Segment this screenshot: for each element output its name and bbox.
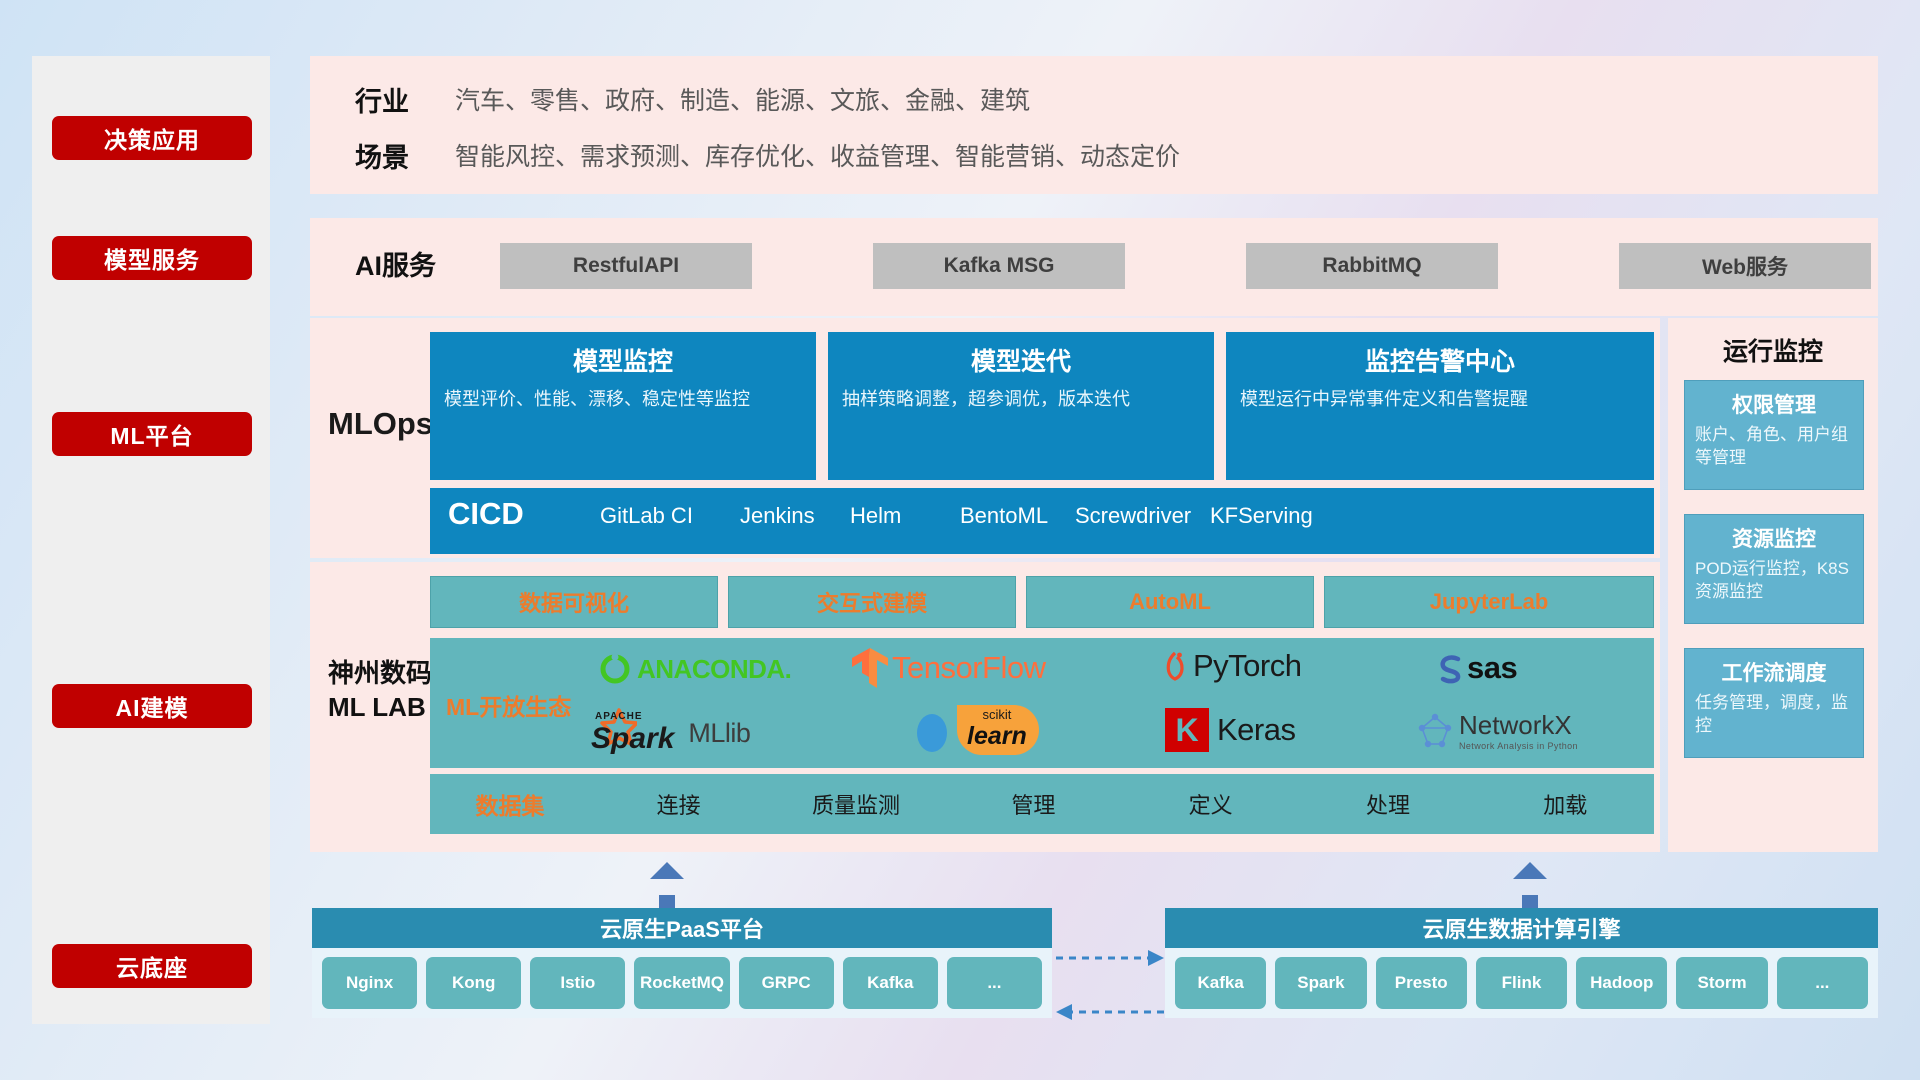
- up-arrow-paas-icon: [650, 862, 684, 904]
- ml-lab-label-line1: 神州数码: [328, 657, 438, 691]
- dataset-item-connect[interactable]: 连接: [590, 788, 767, 820]
- scikit-learn-logo: scikit learn: [915, 704, 1039, 756]
- ai-service-chip-web-service[interactable]: Web服务: [1619, 243, 1871, 289]
- cloud-engine-chips: Kafka Spark Presto Flink Hadoop Storm ..…: [1165, 948, 1878, 1018]
- cicd-title: CICD: [430, 488, 600, 532]
- pytorch-logo: PyTorch: [1160, 648, 1301, 684]
- cloud-chip-more-engine[interactable]: ...: [1777, 957, 1868, 1009]
- cicd-item-gitlab-ci[interactable]: GitLab CI: [600, 488, 740, 530]
- pytorch-logo-text: PyTorch: [1193, 648, 1301, 684]
- monitor-card-workflow[interactable]: 工作流调度 任务管理，调度，监控: [1684, 648, 1864, 758]
- dataset-item-loading[interactable]: 加载: [1477, 788, 1654, 820]
- card-desc: 模型运行中异常事件定义和告警提醒: [1240, 387, 1640, 411]
- monitor-card-resource[interactable]: 资源监控 POD运行监控，K8S资源监控: [1684, 514, 1864, 624]
- dataset-item-definition[interactable]: 定义: [1122, 788, 1299, 820]
- sas-logo: sas: [1433, 650, 1517, 686]
- ml-lab-label-line2: ML LAB: [328, 691, 438, 725]
- runtime-monitoring-panel: 运行监控 权限管理 账户、角色、用户组等管理 资源监控 POD运行监控，K8S资…: [1668, 318, 1878, 852]
- card-desc: 账户、角色、用户组等管理: [1695, 424, 1853, 470]
- cicd-item-kfserving[interactable]: KFServing: [1210, 488, 1340, 530]
- spark-apache-text: APACHE: [595, 711, 674, 722]
- cloud-chip-more[interactable]: ...: [947, 957, 1042, 1009]
- layer-label-ml-platform[interactable]: ML平台: [52, 412, 252, 456]
- sas-logo-text: sas: [1467, 650, 1517, 686]
- cloud-chip-flink[interactable]: Flink: [1476, 957, 1567, 1009]
- layer-label-decision[interactable]: 决策应用: [52, 116, 252, 160]
- ai-service-chip-kafka-msg[interactable]: Kafka MSG: [873, 243, 1125, 289]
- card-title: 资源监控: [1695, 523, 1853, 553]
- cloud-chip-hadoop[interactable]: Hadoop: [1576, 957, 1667, 1009]
- cloud-chip-spark[interactable]: Spark: [1275, 957, 1366, 1009]
- anaconda-logo-text: ANACONDA.: [637, 654, 791, 685]
- keras-logo: K Keras: [1165, 708, 1295, 752]
- runtime-monitoring-title: 运行监控: [1668, 318, 1878, 368]
- tool-chip-interactive-modeling[interactable]: 交互式建模: [728, 576, 1016, 628]
- mlops-label: MLOps: [328, 406, 433, 442]
- layer-label-ai-modeling[interactable]: AI建模: [52, 684, 252, 728]
- mlops-card-model-iteration[interactable]: 模型迭代 抽样策略调整，超参调优，版本迭代: [828, 332, 1214, 480]
- ai-service-chip-rabbitmq[interactable]: RabbitMQ: [1246, 243, 1498, 289]
- scikit-text: scikit: [967, 707, 1027, 722]
- cicd-item-jenkins[interactable]: Jenkins: [740, 488, 850, 530]
- ai-service-panel: AI服务 RestfulAPI Kafka MSG RabbitMQ Web服务: [310, 218, 1878, 316]
- ml-open-ecosystem-label: ML开放生态: [446, 688, 571, 722]
- cloud-engine-title: 云原生数据计算引擎: [1165, 908, 1878, 948]
- card-desc: 模型评价、性能、漂移、稳定性等监控: [444, 387, 802, 411]
- tool-chip-data-visualization[interactable]: 数据可视化: [430, 576, 718, 628]
- cicd-bar: CICD GitLab CI Jenkins Helm BentoML Scre…: [430, 488, 1654, 554]
- cloud-paas-title: 云原生PaaS平台: [312, 908, 1052, 948]
- cloud-chip-istio[interactable]: Istio: [530, 957, 625, 1009]
- tool-chip-automl[interactable]: AutoML: [1026, 576, 1314, 628]
- cicd-item-helm[interactable]: Helm: [850, 488, 960, 530]
- card-title: 监控告警中心: [1240, 342, 1640, 378]
- cloud-connectors: [1052, 940, 1167, 1030]
- cloud-chip-rocketmq[interactable]: RocketMQ: [634, 957, 729, 1009]
- monitor-card-permission[interactable]: 权限管理 账户、角色、用户组等管理: [1684, 380, 1864, 490]
- dataset-item-quality-monitoring[interactable]: 质量监测: [767, 788, 944, 820]
- industry-label: 行业: [355, 80, 409, 119]
- card-title: 工作流调度: [1695, 657, 1853, 687]
- ml-open-ecosystem-box: ML开放生态 ANACONDA. TensorFlow PyTorc: [430, 638, 1654, 768]
- mlops-card-alert-center[interactable]: 监控告警中心 模型运行中异常事件定义和告警提醒: [1226, 332, 1654, 480]
- cloud-chip-presto[interactable]: Presto: [1376, 957, 1467, 1009]
- card-desc: POD运行监控，K8S资源监控: [1695, 558, 1853, 604]
- ml-lab-panel: 神州数码 ML LAB 数据可视化 交互式建模 AutoML JupyterLa…: [310, 562, 1660, 852]
- cicd-item-bentoml[interactable]: BentoML: [960, 488, 1075, 530]
- anaconda-logo: ANACONDA.: [598, 652, 791, 686]
- layer-label-model-service[interactable]: 模型服务: [52, 236, 252, 280]
- card-desc: 抽样策略调整，超参调优，版本迭代: [842, 387, 1200, 411]
- scene-label: 场景: [355, 136, 409, 175]
- cloud-engine-column: 云原生数据计算引擎 Kafka Spark Presto Flink Hadoo…: [1165, 908, 1878, 1018]
- mlops-card-model-monitoring[interactable]: 模型监控 模型评价、性能、漂移、稳定性等监控: [430, 332, 816, 480]
- networkx-logo-text: NetworkX: [1459, 710, 1578, 741]
- mlops-panel: MLOps 模型监控 模型评价、性能、漂移、稳定性等监控 模型迭代 抽样策略调整…: [310, 318, 1660, 558]
- cloud-paas-chips: Nginx Kong Istio RocketMQ GRPC Kafka ...: [312, 948, 1052, 1018]
- ai-service-chip-restfulapi[interactable]: RestfulAPI: [500, 243, 752, 289]
- scene-value: 智能风控、需求预测、库存优化、收益管理、智能营销、动态定价: [455, 137, 1180, 173]
- dataset-label: 数据集: [430, 787, 590, 821]
- tool-chip-jupyterlab[interactable]: JupyterLab: [1324, 576, 1654, 628]
- dataset-bar: 数据集 连接 质量监测 管理 定义 处理 加载: [430, 774, 1654, 834]
- dataset-item-processing[interactable]: 处理: [1299, 788, 1476, 820]
- cloud-chip-storm[interactable]: Storm: [1676, 957, 1767, 1009]
- cloud-chip-kafka[interactable]: Kafka: [843, 957, 938, 1009]
- ai-service-label: AI服务: [355, 244, 436, 283]
- industry-value: 汽车、零售、政府、制造、能源、文旅、金融、建筑: [455, 81, 1030, 117]
- spark-mllib-logo: APACHE Spark MLlib: [585, 708, 750, 758]
- ml-lab-label: 神州数码 ML LAB: [328, 657, 438, 725]
- cloud-paas-column: 云原生PaaS平台 Nginx Kong Istio RocketMQ GRPC…: [312, 908, 1052, 1018]
- layer-label-cloud-base[interactable]: 云底座: [52, 944, 252, 988]
- card-desc: 任务管理，调度，监控: [1695, 692, 1853, 738]
- layer-rail: 决策应用 模型服务 ML平台 AI建模 云底座: [32, 56, 270, 1024]
- cloud-chip-kafka-engine[interactable]: Kafka: [1175, 957, 1266, 1009]
- cloud-chip-kong[interactable]: Kong: [426, 957, 521, 1009]
- keras-mark: K: [1165, 708, 1209, 752]
- learn-text: learn: [967, 722, 1027, 751]
- dataset-item-management[interactable]: 管理: [945, 788, 1122, 820]
- cloud-chip-grpc[interactable]: GRPC: [739, 957, 834, 1009]
- keras-logo-text: Keras: [1217, 712, 1295, 748]
- mllib-logo-text: MLlib: [688, 718, 750, 749]
- networkx-logo-subtext: Network Analysis in Python: [1459, 741, 1578, 751]
- card-title: 模型监控: [444, 342, 802, 378]
- cloud-chip-nginx[interactable]: Nginx: [322, 957, 417, 1009]
- card-title: 权限管理: [1695, 389, 1853, 419]
- up-arrow-engine-icon: [1513, 862, 1547, 904]
- industry-scene-panel: 行业 汽车、零售、政府、制造、能源、文旅、金融、建筑 场景 智能风控、需求预测、…: [310, 56, 1878, 194]
- tensorflow-logo: TensorFlow: [850, 646, 1046, 690]
- networkx-logo: NetworkX Network Analysis in Python: [1415, 710, 1578, 751]
- cicd-item-screwdriver[interactable]: Screwdriver: [1075, 488, 1210, 530]
- tensorflow-logo-text: TensorFlow: [892, 650, 1046, 686]
- spark-logo-text: Spark: [591, 722, 674, 756]
- card-title: 模型迭代: [842, 342, 1200, 378]
